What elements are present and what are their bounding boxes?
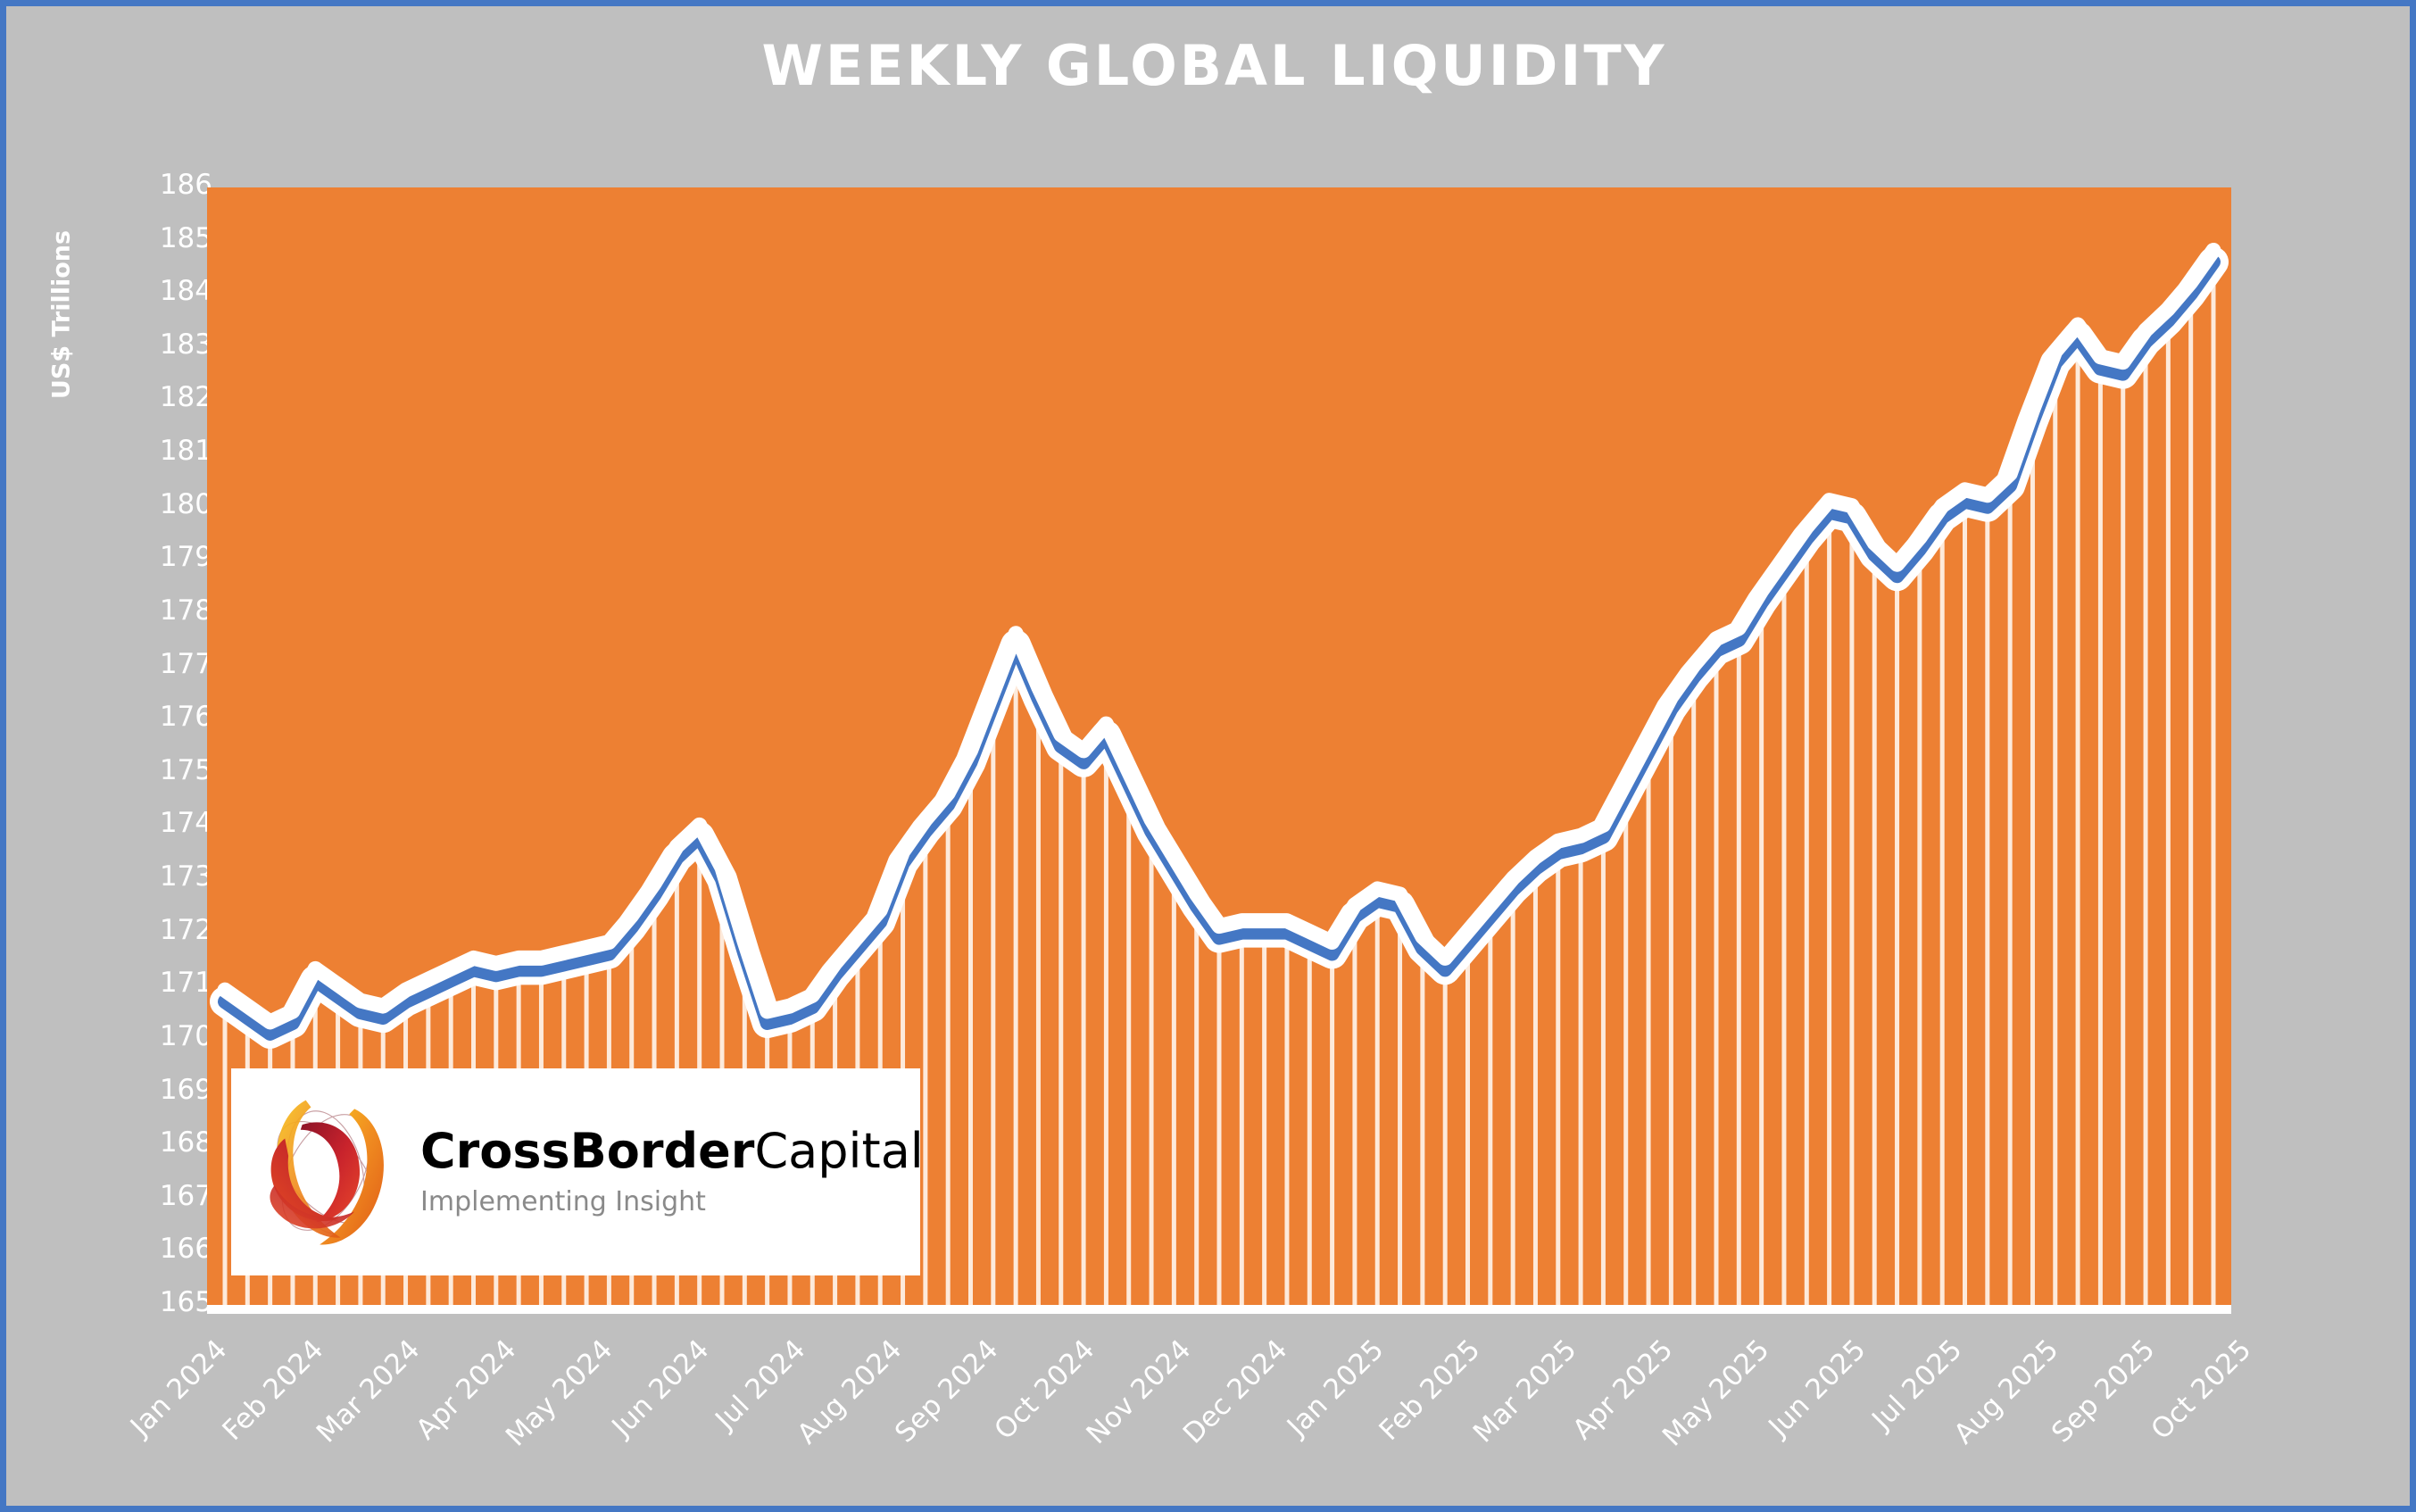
y-axis-tick-label: 167 [87,1183,212,1210]
crossborder-logo-icon [251,1090,401,1255]
y-axis-tick-label: 181 [87,437,212,465]
y-axis-tick-label: 185 [87,225,212,253]
logo-text-block: CrossBorderCapital Implementing Insight [420,1126,924,1217]
y-axis-tick-label: 168 [87,1129,212,1157]
liquidity-line-highlight [225,250,2213,1021]
y-axis-tick-label: 166 [87,1235,212,1263]
y-axis-label: US$ Trillions [48,226,76,404]
y-axis-tick-label: 170 [87,1023,212,1051]
y-axis-tick-label: 176 [87,703,212,731]
logo-name-light: Capital [754,1123,923,1179]
y-axis-tick-label: 183 [87,331,212,359]
page-title: WEEKLY GLOBAL LIQUIDITY [6,33,2416,98]
y-axis-tick-label: 177 [87,651,212,678]
y-axis-tick-label: 174 [87,810,212,837]
y-axis-tick-label: 171 [87,969,212,997]
y-axis-tick-label: 186 [87,171,212,199]
y-axis-tick-label: 165 [87,1289,212,1317]
y-axis-tick-label: 175 [87,757,212,785]
brand-logo: CrossBorderCapital Implementing Insight [231,1068,920,1275]
chart-frame: WEEKLY GLOBAL LIQUIDITY US$ Trillions 18… [0,0,2416,1512]
logo-tagline: Implementing Insight [420,1186,924,1217]
y-axis-tick-label: 178 [87,597,212,625]
logo-name-bold: CrossBorder [420,1123,754,1179]
y-axis-tick-label: 172 [87,917,212,944]
y-axis-tick-label: 179 [87,544,212,571]
y-axis-tick-label: 184 [87,278,212,305]
y-axis-tick-label: 180 [87,491,212,519]
x-axis-baseline [207,1305,2231,1314]
y-axis-tick-label: 173 [87,863,212,891]
y-axis-tick-label: 182 [87,384,212,411]
y-axis-tick-label: 169 [87,1076,212,1104]
logo-company-name: CrossBorderCapital [420,1126,924,1177]
